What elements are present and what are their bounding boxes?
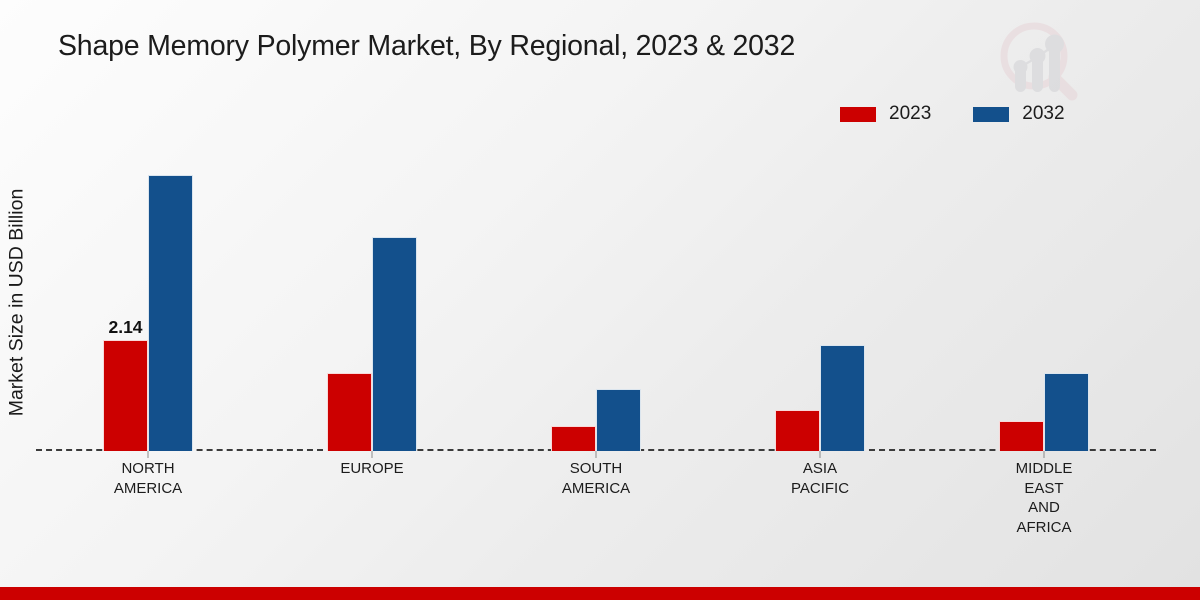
x-axis-tick [596,451,597,458]
x-axis-category-label: SOUTH AMERICA [484,459,708,498]
chart-legend: 2023 2032 [840,103,1065,125]
bar-2023[interactable] [327,373,372,451]
y-axis-title-text: Market Size in USD Billion [6,188,29,416]
legend-swatch-2023 [840,107,876,122]
x-axis-tick [820,451,821,458]
bottom-accent-bar [0,587,1200,600]
legend-label-2032: 2032 [1022,103,1064,125]
bar-2023[interactable] [551,426,596,451]
bar-2032[interactable] [148,175,193,451]
x-axis-tick [1044,451,1045,458]
bar-group-bars [932,140,1156,451]
bar-2032[interactable] [1044,373,1089,451]
brand-logo-watermark-icon [990,18,1082,104]
chart-container: Shape Memory Polymer Market, By Regional… [0,0,1200,600]
bar-group: 2.14 [36,140,260,451]
bar-value-label: 2.14 [108,317,142,338]
bar-group-bars [708,140,932,451]
bar-2032[interactable] [596,389,641,451]
x-axis-tick [372,451,373,458]
x-axis-category-labels: NORTH AMERICAEUROPESOUTH AMERICAASIA PAC… [36,459,1200,559]
bar-group-bars [260,140,484,451]
bar-group-bars: 2.14 [36,140,260,451]
bar-2032[interactable] [820,345,865,451]
legend-label-2023: 2023 [889,103,931,125]
bar-2023[interactable]: 2.14 [103,340,148,451]
plot-area: 2.14 [36,140,1200,451]
bar-group [708,140,932,451]
bar-2023[interactable] [775,410,820,451]
bar-2023[interactable] [999,421,1044,451]
x-axis-category-label: EUROPE [260,459,484,479]
chart-title: Shape Memory Polymer Market, By Regional… [58,30,998,63]
x-axis-category-label: NORTH AMERICA [36,459,260,498]
x-axis-category-label: MIDDLE EAST AND AFRICA [932,459,1156,537]
x-axis-category-label: ASIA PACIFIC [708,459,932,498]
bar-2032[interactable] [372,237,417,451]
legend-item-2032[interactable]: 2032 [973,103,1064,125]
x-axis-tick [148,451,149,458]
bar-group [932,140,1156,451]
bar-group-bars [484,140,708,451]
bar-group [260,140,484,451]
legend-item-2023[interactable]: 2023 [840,103,931,125]
y-axis-title: Market Size in USD Billion [0,138,34,466]
legend-swatch-2032 [973,107,1009,122]
bar-group [484,140,708,451]
